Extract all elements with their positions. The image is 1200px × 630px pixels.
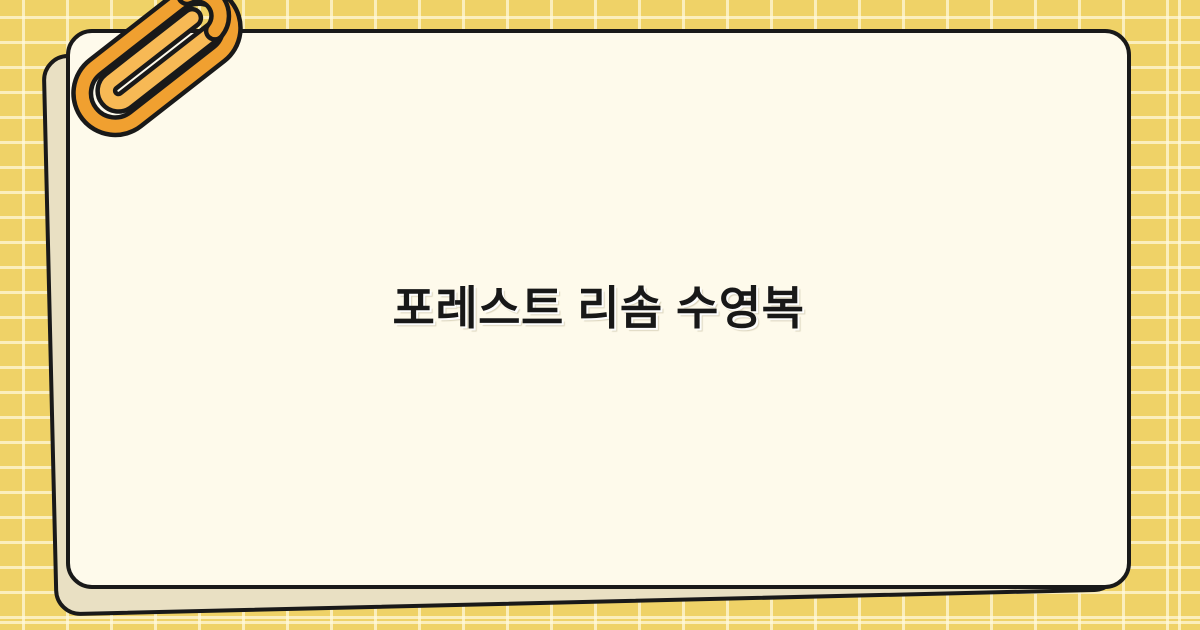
paper-stack: 포레스트 리솜 수영복 <box>0 0 1200 630</box>
poster-canvas: 포레스트 리솜 수영복 <box>0 0 1200 630</box>
paper-front-layer: 포레스트 리솜 수영복 <box>66 29 1131 589</box>
page-title: 포레스트 리솜 수영복 <box>333 280 865 338</box>
